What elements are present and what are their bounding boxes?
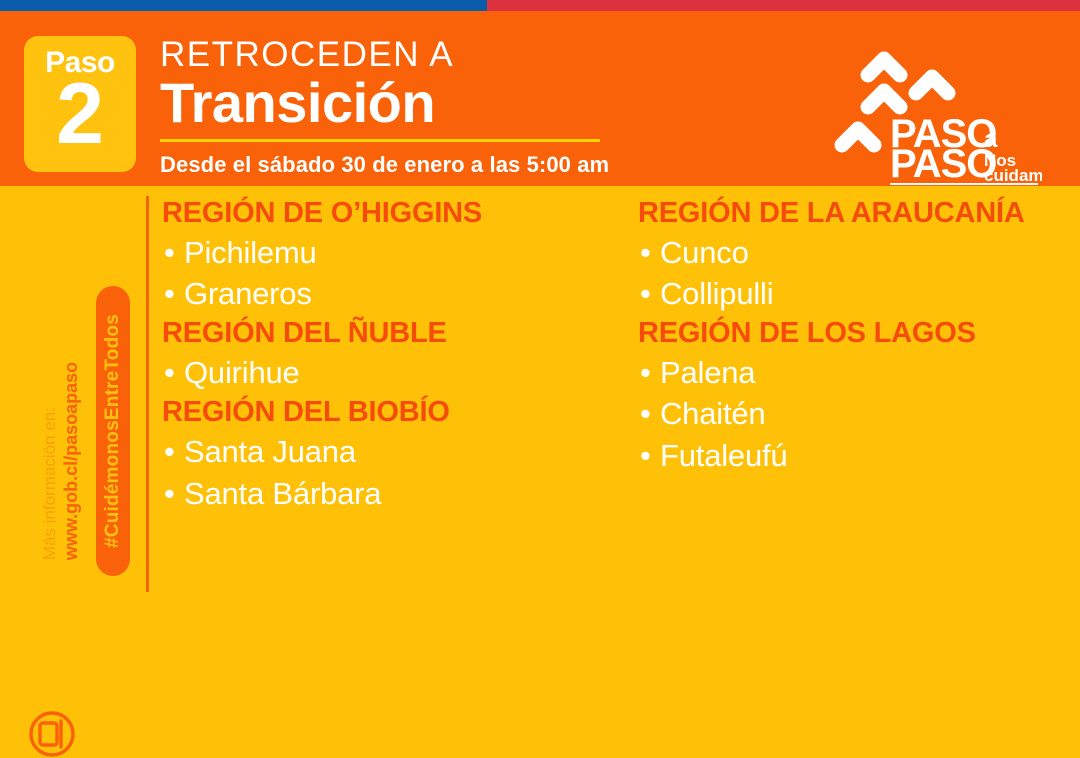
list-item: Pichilemu (162, 232, 586, 273)
more-info-label: Más información en: (39, 362, 60, 560)
region-heading: REGIÓN DEL ÑUBLE (162, 318, 586, 350)
svg-text:cuidamos: cuidamos (984, 166, 1042, 185)
region-block: REGIÓN DE LOS LAGOS Palena Chaitén Futal… (638, 318, 1062, 476)
list-item: Santa Juana (162, 431, 586, 472)
flag-blue-band (0, 0, 487, 11)
region-block: REGIÓN DEL ÑUBLE Quirihue (162, 318, 586, 393)
page-title: Transición (160, 74, 609, 131)
region-block: REGIÓN DE LA ARAUCANÍA Cunco Collipulli (638, 198, 1062, 314)
title-underline-rule (160, 139, 600, 142)
list-item: Chaitén (638, 393, 1062, 434)
paso-step-badge: Paso 2 (24, 36, 136, 172)
list-item: Palena (638, 352, 1062, 393)
list-item: Quirihue (162, 352, 586, 393)
regions-column-left: REGIÓN DE O’HIGGINS Pichilemu Graneros R… (162, 198, 586, 598)
flag-red-band (487, 0, 1080, 11)
region-heading: REGIÓN DE LOS LAGOS (638, 318, 1062, 350)
regions-content: REGIÓN DE O’HIGGINS Pichilemu Graneros R… (162, 198, 1062, 598)
region-heading: REGIÓN DE O’HIGGINS (162, 198, 586, 230)
hashtag-pill: #CuidémonosEntreTodos (96, 286, 130, 576)
list-item: Santa Bárbara (162, 473, 586, 514)
list-item: Graneros (162, 273, 586, 314)
list-item: Collipulli (638, 273, 1062, 314)
paso-badge-number: 2 (56, 74, 104, 156)
more-info-url[interactable]: www.gob.cl/pasoapaso (60, 362, 83, 560)
svg-text:PASO: PASO (890, 142, 996, 185)
rail-divider (146, 196, 149, 592)
regions-column-right: REGIÓN DE LA ARAUCANÍA Cunco Collipulli … (638, 198, 1062, 598)
region-block: REGIÓN DE O’HIGGINS Pichilemu Graneros (162, 198, 586, 314)
paso-a-paso-logo: PASO a PASO Nos cuidamos (832, 49, 1042, 185)
list-item: Futaleufú (638, 435, 1062, 476)
region-heading: REGIÓN DE LA ARAUCANÍA (638, 198, 1062, 230)
flag-strip (0, 0, 1080, 11)
region-heading: REGIÓN DEL BIOBÍO (162, 397, 586, 429)
left-rail: #CuidémonosEntreTodos Más información en… (0, 186, 146, 600)
header-banner: Paso 2 RETROCEDEN A Transición Desde el … (0, 11, 1080, 186)
header-subtitle: Desde el sábado 30 de enero a las 5:00 a… (160, 152, 609, 178)
header-kicker: RETROCEDEN A (160, 37, 609, 72)
header-text-group: RETROCEDEN A Transición Desde el sábado … (160, 37, 609, 178)
web-window-icon (28, 710, 76, 758)
hashtag-label: #CuidémonosEntreTodos (102, 314, 124, 548)
region-block: REGIÓN DEL BIOBÍO Santa Juana Santa Bárb… (162, 397, 586, 513)
more-info-block: Más información en: www.gob.cl/pasoapaso (38, 346, 84, 576)
list-item: Cunco (638, 232, 1062, 273)
